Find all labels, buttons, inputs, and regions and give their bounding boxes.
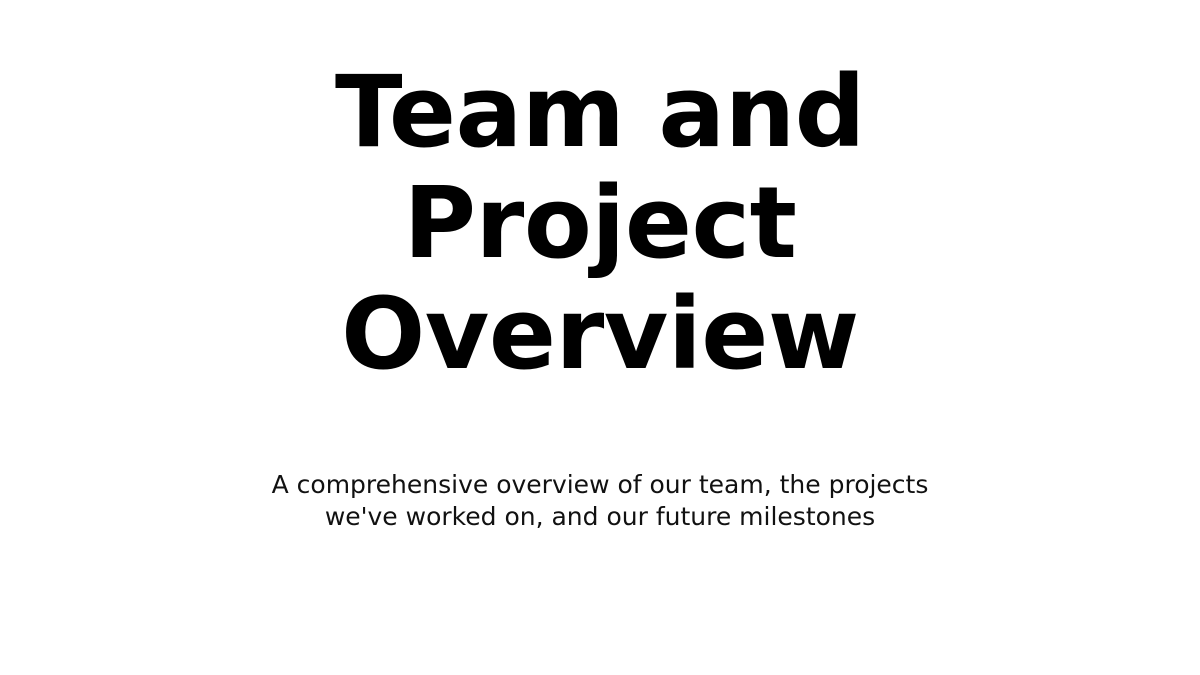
presentation-slide: Team and Project Overview A comprehensiv… [0, 0, 1200, 675]
slide-content-container: Team and Project Overview A comprehensiv… [0, 0, 1200, 675]
slide-subtitle: A comprehensive overview of our team, th… [260, 469, 940, 534]
slide-empty-body-area [0, 534, 1200, 675]
slide-title: Team and Project Overview [160, 58, 1040, 391]
